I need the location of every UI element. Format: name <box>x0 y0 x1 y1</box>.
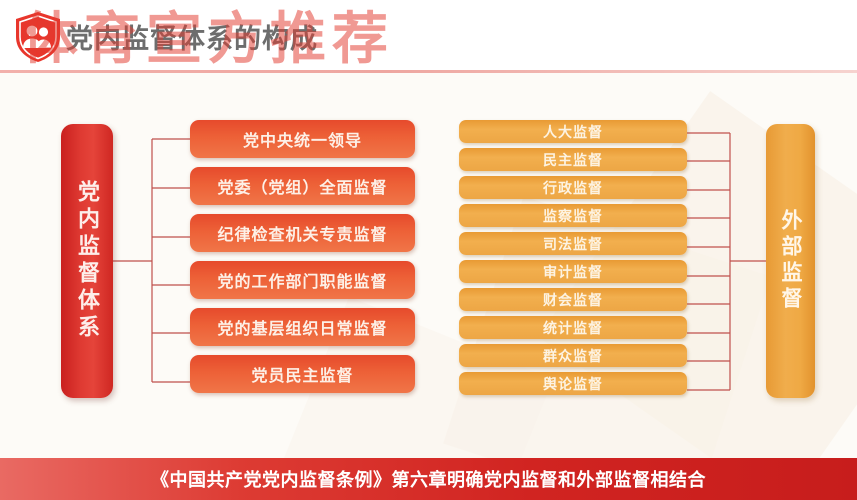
external-supervision-item-label: 统计监督 <box>543 318 603 338</box>
inner-supervision-item[interactable]: 党中央统一领导 <box>190 120 415 158</box>
external-supervision-list: 人大监督 民主监督 行政监督 监察监督 司法监督 审计监督 财会监督 统计监督 … <box>459 120 687 400</box>
inner-supervision-item[interactable]: 党员民主监督 <box>190 355 415 393</box>
shield-people-icon <box>12 10 64 64</box>
external-supervision-item-label: 群众监督 <box>543 346 603 366</box>
external-supervision-item[interactable]: 民主监督 <box>459 148 687 171</box>
external-supervision-item-label: 审计监督 <box>543 262 603 282</box>
external-supervision-item[interactable]: 司法监督 <box>459 232 687 255</box>
footer-banner: 《中国共产党党内监督条例》第六章明确党内监督和外部监督相结合 <box>0 458 857 500</box>
page-title: 党内监督体系的构成 <box>66 17 318 56</box>
slide-canvas: 党内监督体系 党中央统一领导 党委（党组）全面监督 纪律检查机关专责监督 党的工… <box>0 0 857 500</box>
inner-supervision-item[interactable]: 党委（党组）全面监督 <box>190 167 415 205</box>
inner-supervision-item-label: 党委（党组）全面监督 <box>217 174 387 198</box>
inner-supervision-item-label: 党的基层组织日常监督 <box>217 315 387 339</box>
external-supervision-item-label: 监察监督 <box>543 206 603 226</box>
connector-lines <box>0 0 857 500</box>
external-supervision-item[interactable]: 人大监督 <box>459 120 687 143</box>
external-supervision-item-label: 舆论监督 <box>543 374 603 394</box>
external-supervision-item-label: 司法监督 <box>543 234 603 254</box>
external-supervision-item[interactable]: 审计监督 <box>459 260 687 283</box>
external-supervision-item-label: 民主监督 <box>543 150 603 170</box>
external-supervision-item-label: 人大监督 <box>543 122 603 142</box>
external-supervision-item[interactable]: 行政监督 <box>459 176 687 199</box>
external-supervision-pillar-label: 外部监督 <box>780 209 801 313</box>
footer-caption: 《中国共产党党内监督条例》第六章明确党内监督和外部监督相结合 <box>151 466 706 492</box>
external-supervision-item[interactable]: 舆论监督 <box>459 372 687 395</box>
inner-supervision-item-label: 纪律检查机关专责监督 <box>217 221 387 245</box>
external-supervision-pillar[interactable]: 外部监督 <box>766 124 815 398</box>
inner-supervision-list: 党中央统一领导 党委（党组）全面监督 纪律检查机关专责监督 党的工作部门职能监督… <box>190 120 415 402</box>
inner-supervision-item-label: 党中央统一领导 <box>243 127 362 151</box>
inner-supervision-item-label: 党员民主监督 <box>251 362 353 386</box>
external-supervision-item[interactable]: 群众监督 <box>459 344 687 367</box>
inner-supervision-pillar-label: 党内监督体系 <box>76 180 98 342</box>
inner-supervision-item[interactable]: 党的基层组织日常监督 <box>190 308 415 346</box>
external-supervision-item-label: 行政监督 <box>543 178 603 198</box>
external-supervision-item[interactable]: 财会监督 <box>459 288 687 311</box>
external-supervision-item[interactable]: 统计监督 <box>459 316 687 339</box>
inner-supervision-item[interactable]: 纪律检查机关专责监督 <box>190 214 415 252</box>
inner-supervision-item[interactable]: 党的工作部门职能监督 <box>190 261 415 299</box>
inner-supervision-item-label: 党的工作部门职能监督 <box>217 268 387 292</box>
inner-supervision-pillar[interactable]: 党内监督体系 <box>61 124 113 398</box>
external-supervision-item[interactable]: 监察监督 <box>459 204 687 227</box>
header-divider <box>0 70 857 73</box>
external-supervision-item-label: 财会监督 <box>543 290 603 310</box>
